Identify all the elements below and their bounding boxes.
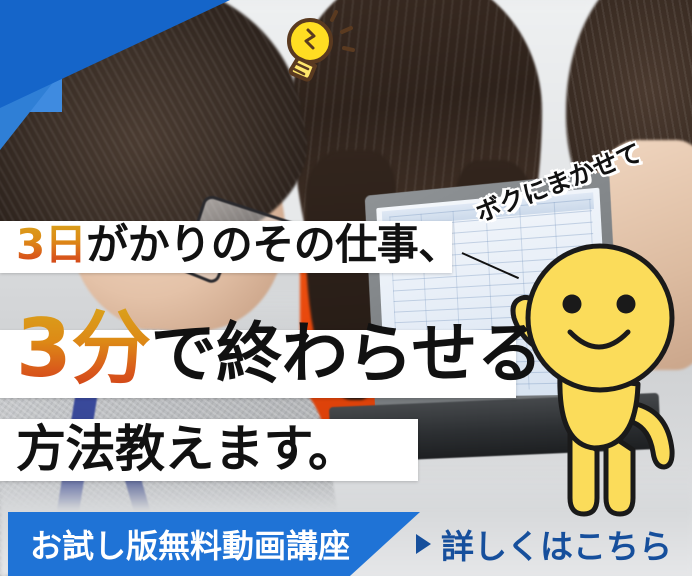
headline-line-2: 3分で終わらせる bbox=[16, 306, 542, 397]
headline-line-1: 3日がかりのその仕事、 bbox=[16, 218, 460, 272]
cta-details-link-label: 詳しくはこちら bbox=[441, 520, 672, 568]
lightbulb-icon bbox=[258, 6, 358, 86]
headline-highlight-days: 3日 bbox=[16, 220, 86, 269]
mascot-eye-left bbox=[563, 295, 582, 314]
headline-line-2-rest: で終わらせる bbox=[151, 315, 543, 392]
play-arrow-icon bbox=[416, 534, 431, 554]
cta-badge-label: お試し版無料動画講座 bbox=[30, 512, 350, 576]
corner-accent-dark bbox=[0, 0, 230, 108]
ad-banner: ボクにまかせて 3日がかりのその仕事、 bbox=[0, 0, 692, 576]
mascot-eye-right bbox=[617, 295, 636, 314]
headline-line-1-rest: がかりのその仕事、 bbox=[86, 220, 460, 269]
cta-bar[interactable]: お試し版無料動画講座 詳しくはこちら bbox=[0, 512, 692, 576]
cta-details-link[interactable]: 詳しくはこちら bbox=[416, 512, 672, 576]
headline-line-3: 方法教えます。 bbox=[16, 416, 358, 482]
headline-highlight-minutes: 3分 bbox=[16, 302, 151, 395]
